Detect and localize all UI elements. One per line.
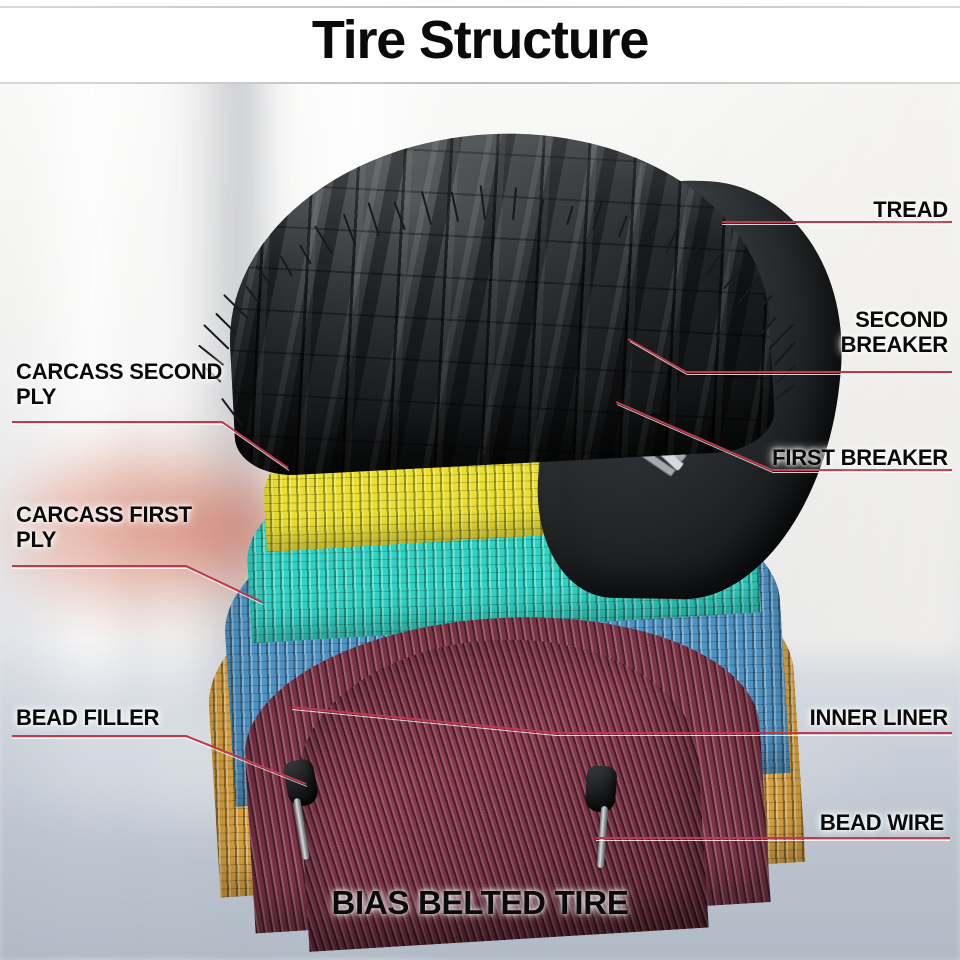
callout-tread: TREAD — [873, 198, 948, 223]
callout-carcass-first-ply: CARCASS FIRST PLY — [16, 503, 192, 552]
tread-shading — [220, 120, 777, 478]
tread-vent-spike — [203, 324, 230, 350]
callout-inner-liner: INNER LINER — [810, 706, 948, 731]
tire-cutaway-model — [150, 120, 850, 850]
bead-filler-right — [584, 765, 617, 813]
callout-carcass-second-ply: CARCASS SECOND PLY — [16, 360, 222, 409]
callout-bead-filler: BEAD FILLER — [16, 706, 159, 731]
layer-tread — [220, 120, 777, 478]
page-title: Tire Structure — [0, 9, 960, 71]
title-rule-bottom — [0, 82, 960, 84]
callout-first-breaker: FIRST BREAKER — [772, 446, 948, 471]
title-rule-top — [0, 6, 960, 8]
callout-bead-wire: BEAD WIRE — [820, 811, 944, 836]
diagram-caption: BIAS BELTED TIRE — [0, 884, 960, 922]
tire-structure-diagram: Tire Structure — [0, 0, 960, 960]
callout-second-breaker: SECOND BREAKER — [841, 308, 948, 357]
